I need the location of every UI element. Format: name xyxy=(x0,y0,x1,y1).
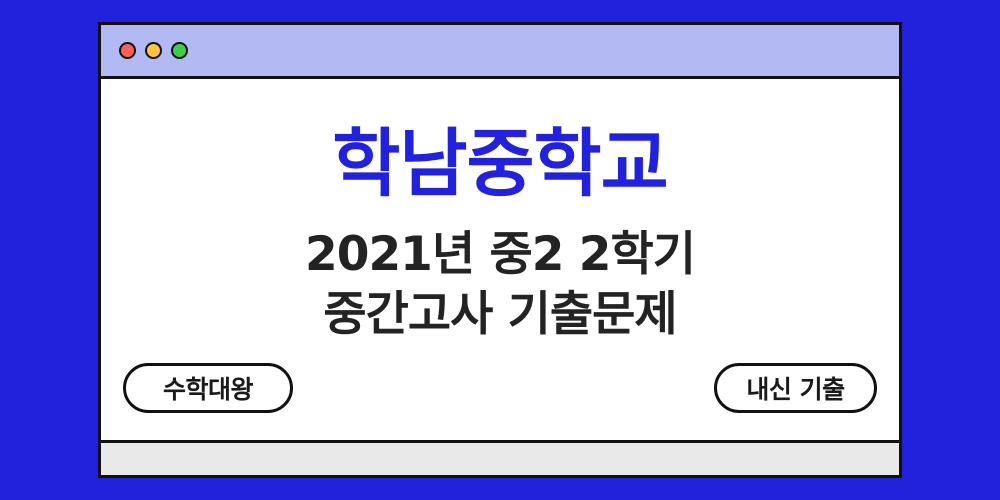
category-badge: 내신 기출 xyxy=(714,363,877,413)
window-titlebar xyxy=(101,25,899,79)
window-controls xyxy=(119,42,188,59)
exam-subtitle-line-1: 2021년 중2 2학기 xyxy=(305,225,695,285)
brand-badge: 수학대왕 xyxy=(123,363,293,413)
window-footer-strip xyxy=(101,440,899,475)
poster-canvas: 학남중학교 2021년 중2 2학기 중간고사 기출문제 수학대왕 내신 기출 xyxy=(0,0,1000,500)
school-name-title: 학남중학교 xyxy=(332,127,667,201)
exam-subtitle: 2021년 중2 2학기 중간고사 기출문제 xyxy=(305,225,695,345)
browser-window-card: 학남중학교 2021년 중2 2학기 중간고사 기출문제 수학대왕 내신 기출 xyxy=(98,22,902,478)
minimize-dot-icon[interactable] xyxy=(145,42,162,59)
close-dot-icon[interactable] xyxy=(119,42,136,59)
exam-subtitle-line-2: 중간고사 기출문제 xyxy=(305,285,695,345)
maximize-dot-icon[interactable] xyxy=(171,42,188,59)
